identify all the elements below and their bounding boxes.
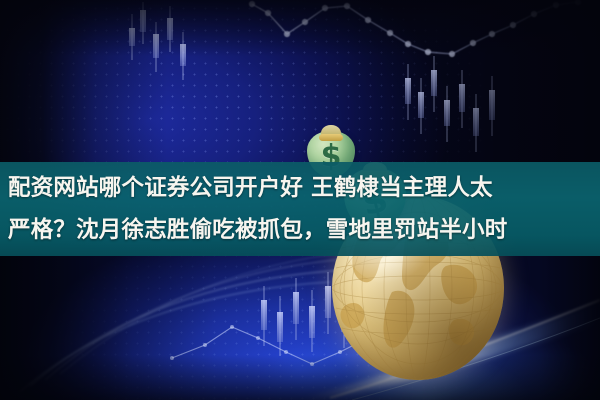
bottom-vignette (0, 250, 600, 400)
headline-text: 配资网站哪个证券公司开户好 王鹤棣当主理人太 严格？沈月徐志胜偷吃被抓包，雪地里… (0, 162, 600, 256)
article-thumbnail: $ $ 配资网站哪个证券公司开户好 王鹤棣当主理人太 严格？沈月徐志胜偷吃被抓包… (0, 0, 600, 400)
headline-line-1: 配资网站哪个证券公司开户好 王鹤棣当主理人太 (8, 167, 592, 209)
headline-line-2: 严格？沈月徐志胜偷吃被抓包，雪地里罚站半小时 (8, 209, 592, 251)
